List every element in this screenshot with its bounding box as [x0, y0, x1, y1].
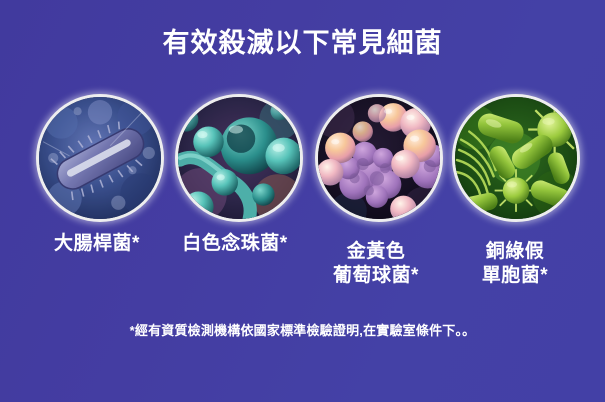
pseudomonas-aeruginosa-micrograph: [455, 97, 577, 219]
germ-label-line: 白色念珠菌*: [155, 232, 315, 256]
germ-image-e-coli: [36, 94, 164, 222]
germ-label-line: 單胞菌*: [435, 264, 595, 288]
germ-label-e-coli: 大腸桿菌*: [17, 232, 177, 256]
germ-image-staphylococcus-aureus: [315, 94, 443, 222]
germ-label-line: 葡萄球菌*: [296, 264, 456, 288]
germ-label-line: 金黃色: [296, 240, 456, 264]
germ-image-candida-albicans: [175, 94, 303, 222]
germ-label-row: 大腸桿菌* 白色念珠菌* 金黃色 葡萄球菌* 銅綠假 單胞菌*: [0, 232, 605, 302]
germ-label-staphylococcus-aureus: 金黃色 葡萄球菌*: [296, 240, 456, 288]
germ-label-pseudomonas-aeruginosa: 銅綠假 單胞菌*: [435, 240, 595, 288]
germ-poster: 有效殺滅以下常見細菌: [0, 0, 605, 402]
page-title: 有效殺滅以下常見細菌: [0, 26, 605, 60]
germ-label-line: 銅綠假: [435, 240, 595, 264]
germ-image-pseudomonas-aeruginosa: [452, 94, 580, 222]
germ-image-row: [0, 92, 605, 222]
footnote-disclaimer: *經有資質檢測機構依國家標準檢驗證明,在實驗室條件下。。: [0, 320, 605, 339]
staphylococcus-aureus-micrograph: [318, 97, 440, 219]
candida-albicans-micrograph: [178, 97, 300, 219]
e-coli-micrograph: [39, 97, 161, 219]
germ-label-candida-albicans: 白色念珠菌*: [155, 232, 315, 256]
germ-label-line: 大腸桿菌*: [17, 232, 177, 256]
